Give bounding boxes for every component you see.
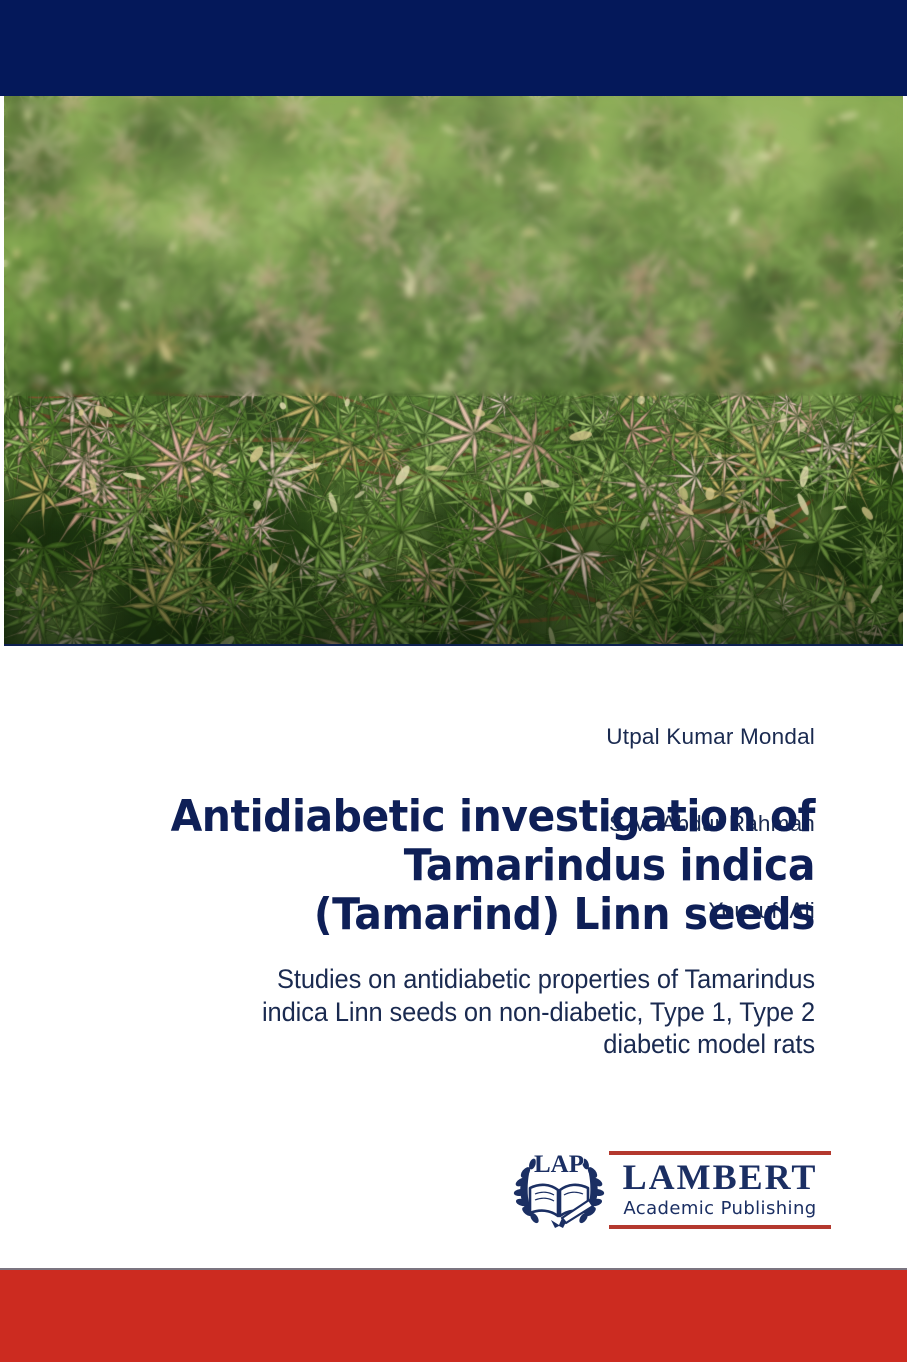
lambert-wordmark-block: LAMBERT Academic Publishing	[609, 1148, 831, 1232]
top-navy-band	[0, 0, 907, 96]
laurel-wreath-open-book-emblem: LAP	[513, 1150, 605, 1230]
logo-rule-bottom	[609, 1225, 831, 1229]
title-line-2: Tamarindus indica	[108, 841, 815, 890]
publisher-logo: LAP LAMBERT Academic Publishing	[513, 1148, 831, 1232]
book-subtitle: Studies on antidiabetic properties of Ta…	[85, 963, 815, 1061]
title-line-3: (Tamarind) Linn seeds	[108, 890, 815, 939]
book-title: Antidiabetic investigation of Tamarindus…	[108, 792, 815, 939]
publisher-name: LAMBERT	[609, 1158, 831, 1196]
cover-photo	[4, 96, 903, 646]
bottom-red-band	[0, 1268, 907, 1362]
lap-emblem-text: LAP	[534, 1151, 584, 1178]
subtitle-line-1: Studies on antidiabetic properties of Ta…	[85, 963, 815, 996]
logo-rule-top	[609, 1151, 831, 1155]
publisher-tagline: Academic Publishing	[609, 1198, 831, 1220]
japanese-maple-foliage-photo	[4, 96, 903, 644]
author-name-1: Utpal Kumar Mondal	[95, 722, 815, 751]
subtitle-line-2: indica Linn seeds on non-diabetic, Type …	[85, 996, 815, 1029]
title-line-1: Antidiabetic investigation of	[108, 792, 815, 841]
subtitle-line-3: diabetic model rats	[85, 1028, 815, 1061]
